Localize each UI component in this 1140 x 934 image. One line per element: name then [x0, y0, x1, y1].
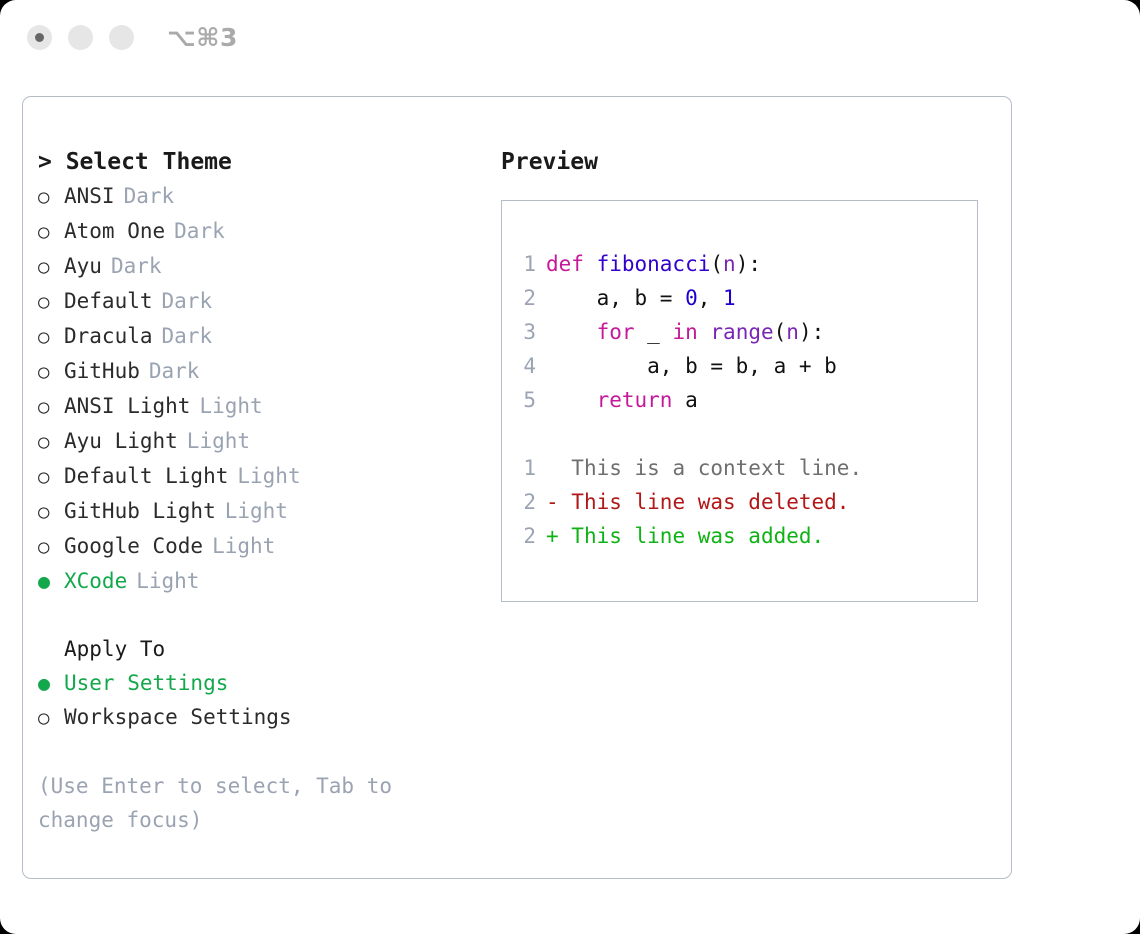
- window-control-minimize[interactable]: [68, 25, 93, 50]
- title-bar: ⌥⌘3: [0, 0, 1140, 78]
- apply-to-option-label: Workspace Settings: [64, 700, 292, 734]
- code-token-plain: a, b =: [546, 286, 685, 310]
- line-number: 5: [502, 383, 546, 417]
- theme-option-label: Dracula: [64, 319, 153, 353]
- diff-marker: [546, 451, 571, 485]
- code-token-fn: fibonacci: [597, 252, 711, 276]
- section-spacer: [38, 598, 478, 632]
- code-token-plain: [698, 320, 711, 344]
- code-token-kw: in: [672, 320, 697, 344]
- radio-unselected-icon: ○: [38, 460, 64, 494]
- apply-to-option-user-settings[interactable]: ●User Settings: [38, 666, 478, 700]
- theme-option-kind: Dark: [174, 214, 225, 248]
- line-number: 3: [502, 315, 546, 349]
- code-token-plain: ):: [736, 252, 761, 276]
- code-token-plain: ,: [698, 286, 723, 310]
- code-token-var: n: [786, 320, 799, 344]
- theme-option-kind: Dark: [162, 284, 213, 318]
- code-line: 4 a, b = b, a + b: [502, 349, 977, 383]
- diff-line-text: This is a context line.: [571, 451, 862, 485]
- code-token-plain: (: [774, 320, 787, 344]
- diff-line-del: 2- This line was deleted.: [502, 485, 977, 519]
- code-token-plain: a, b = b, a + b: [546, 354, 837, 378]
- theme-option-dracula[interactable]: ○DraculaDark: [38, 319, 478, 354]
- code-token-kw: return: [597, 388, 673, 412]
- preview-column: Preview 1def fibonacci(n):2 a, b = 0, 13…: [501, 145, 1001, 602]
- diff-line-ctx: 1 This is a context line.: [502, 451, 977, 485]
- radio-selected-icon: ●: [38, 564, 64, 598]
- preview-title: Preview: [501, 145, 1001, 179]
- theme-list[interactable]: ○ANSIDark○Atom OneDark○AyuDark○DefaultDa…: [38, 179, 478, 598]
- theme-option-kind: Dark: [162, 319, 213, 353]
- radio-unselected-icon: ○: [38, 215, 64, 249]
- code-token-kw: for: [597, 320, 635, 344]
- code-token-plain: _: [635, 320, 673, 344]
- theme-option-kind: Light: [237, 459, 300, 493]
- code-line-text: def fibonacci(n):: [546, 247, 761, 281]
- theme-option-kind: Light: [225, 494, 288, 528]
- code-token-plain: [546, 320, 597, 344]
- keyboard-hint-text: (Use Enter to select, Tab to change focu…: [38, 769, 438, 837]
- keyboard-shortcut-label: ⌥⌘3: [167, 23, 238, 52]
- apply-to-option-label: User Settings: [64, 666, 228, 700]
- code-token-num: 0: [685, 286, 698, 310]
- theme-option-kind: Light: [212, 529, 275, 563]
- main-panel: > Select Theme ○ANSIDark○Atom OneDark○Ay…: [22, 96, 1012, 879]
- line-number: 2: [502, 485, 546, 519]
- theme-option-ansi[interactable]: ○ANSIDark: [38, 179, 478, 214]
- code-token-kw: def: [546, 252, 597, 276]
- diff-marker: -: [546, 485, 571, 519]
- code-diff-gap: [502, 417, 977, 451]
- apply-to-list[interactable]: ●User Settings○Workspace Settings: [38, 666, 478, 735]
- code-token-plain: a: [672, 388, 697, 412]
- code-token-num: 1: [723, 286, 736, 310]
- theme-option-kind: Light: [136, 564, 199, 598]
- line-number: 2: [502, 281, 546, 315]
- apply-to-option-workspace-settings[interactable]: ○Workspace Settings: [38, 700, 478, 735]
- line-number: 2: [502, 519, 546, 553]
- code-preview-box: 1def fibonacci(n):2 a, b = 0, 13 for _ i…: [501, 200, 978, 602]
- diff-marker: +: [546, 519, 571, 553]
- theme-option-ansi-light[interactable]: ○ANSI LightLight: [38, 389, 478, 424]
- theme-option-label: XCode: [64, 564, 127, 598]
- theme-option-label: GitHub Light: [64, 494, 216, 528]
- code-token-plain: ):: [799, 320, 824, 344]
- theme-option-label: GitHub: [64, 354, 140, 388]
- theme-option-atom-one[interactable]: ○Atom OneDark: [38, 214, 478, 249]
- line-number: 4: [502, 349, 546, 383]
- theme-option-label: Ayu Light: [64, 424, 178, 458]
- hint-spacer: [38, 735, 478, 769]
- radio-unselected-icon: ○: [38, 250, 64, 284]
- line-number: 1: [502, 247, 546, 281]
- theme-option-kind: Dark: [111, 249, 162, 283]
- theme-option-label: Google Code: [64, 529, 203, 563]
- radio-unselected-icon: ○: [38, 425, 64, 459]
- code-line: 5 return a: [502, 383, 977, 417]
- theme-option-github[interactable]: ○GitHubDark: [38, 354, 478, 389]
- select-theme-header: > Select Theme: [38, 145, 478, 179]
- theme-option-kind: Light: [187, 424, 250, 458]
- app-window: ⌥⌘3 > Select Theme ○ANSIDark○Atom OneDar…: [0, 0, 1140, 934]
- theme-option-default[interactable]: ○DefaultDark: [38, 284, 478, 319]
- radio-unselected-icon: ○: [38, 530, 64, 564]
- radio-selected-icon: ●: [38, 666, 64, 700]
- theme-option-kind: Light: [199, 389, 262, 423]
- radio-unselected-icon: ○: [38, 390, 64, 424]
- code-token-bfn: range: [710, 320, 773, 344]
- radio-unselected-icon: ○: [38, 285, 64, 319]
- active-indicator-dot: [35, 33, 44, 42]
- theme-option-kind: Dark: [124, 179, 175, 213]
- theme-option-label: Atom One: [64, 214, 165, 248]
- theme-option-default-light[interactable]: ○Default LightLight: [38, 459, 478, 494]
- code-line-text: return a: [546, 383, 698, 417]
- theme-option-google-code[interactable]: ○Google CodeLight: [38, 529, 478, 564]
- theme-option-ayu[interactable]: ○AyuDark: [38, 249, 478, 284]
- radio-unselected-icon: ○: [38, 180, 64, 214]
- diff-line-text: This line was added.: [571, 519, 824, 553]
- theme-option-label: ANSI Light: [64, 389, 190, 423]
- theme-selector-column: > Select Theme ○ANSIDark○Atom OneDark○Ay…: [38, 145, 478, 837]
- theme-option-label: Ayu: [64, 249, 102, 283]
- line-number: 1: [502, 451, 546, 485]
- radio-unselected-icon: ○: [38, 495, 64, 529]
- theme-option-label: Default: [64, 284, 153, 318]
- code-line: 3 for _ in range(n):: [502, 315, 977, 349]
- window-control-close[interactable]: [27, 25, 52, 50]
- code-line-text: a, b = 0, 1: [546, 281, 736, 315]
- code-line: 2 a, b = 0, 1: [502, 281, 977, 315]
- theme-option-kind: Dark: [149, 354, 200, 388]
- code-line: 1def fibonacci(n):: [502, 247, 977, 281]
- code-line-text: for _ in range(n):: [546, 315, 824, 349]
- code-line-text: a, b = b, a + b: [546, 349, 837, 383]
- theme-option-label: ANSI: [64, 179, 115, 213]
- apply-to-header: Apply To: [38, 632, 478, 666]
- diff-line-text: This line was deleted.: [571, 485, 849, 519]
- radio-unselected-icon: ○: [38, 355, 64, 389]
- theme-option-xcode[interactable]: ●XCodeLight: [38, 564, 478, 598]
- code-block: 1def fibonacci(n):2 a, b = 0, 13 for _ i…: [502, 247, 977, 417]
- window-control-maximize[interactable]: [109, 25, 134, 50]
- radio-unselected-icon: ○: [38, 701, 64, 735]
- diff-line-add: 2+ This line was added.: [502, 519, 977, 553]
- code-token-var: n: [723, 252, 736, 276]
- theme-option-ayu-light[interactable]: ○Ayu LightLight: [38, 424, 478, 459]
- window-controls: [27, 25, 134, 50]
- theme-option-label: Default Light: [64, 459, 228, 493]
- diff-block: 1 This is a context line.2- This line wa…: [502, 451, 977, 553]
- radio-unselected-icon: ○: [38, 320, 64, 354]
- code-token-plain: [546, 388, 597, 412]
- theme-option-github-light[interactable]: ○GitHub LightLight: [38, 494, 478, 529]
- code-token-plain: (: [710, 252, 723, 276]
